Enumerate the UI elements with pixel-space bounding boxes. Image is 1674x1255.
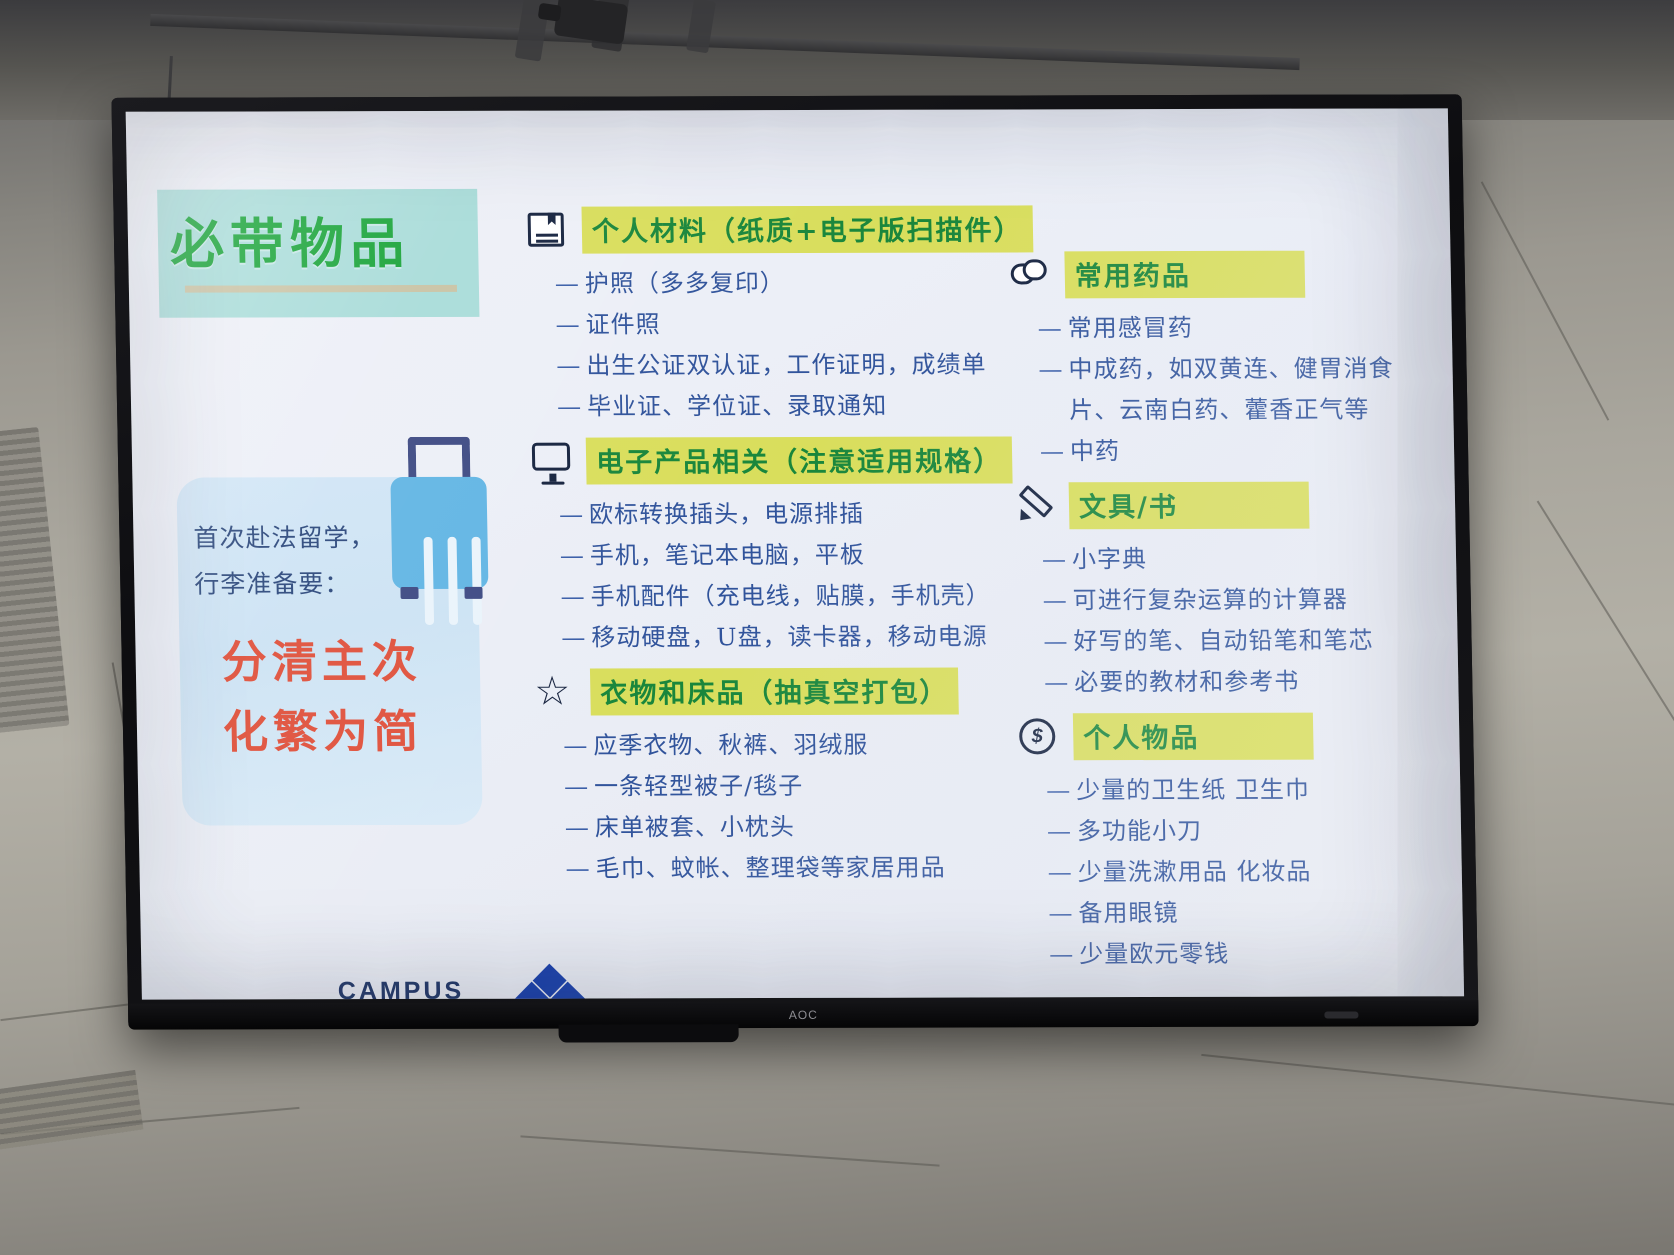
room-photo-scene: AOC 必带物品 首次赴法留学， 行李准备要： <box>0 0 1674 1255</box>
pencil-icon <box>1013 486 1058 526</box>
section-heading-row: 常用药品 <box>1008 250 1439 298</box>
column-right: 常用药品 —常用感冒药 —中成药，如双黄连、健胃消食 —片、云南白药、藿香正气等… <box>1008 250 1452 985</box>
logo-word-campus: CAMPUS <box>338 977 465 1000</box>
section-personal-items: $ 个人物品 —少量的卫生纸 卫生巾 —多功能小刀 —少量洗漱用品 化妆品 —备… <box>1017 712 1452 975</box>
list-item: —欧标转换插头，电源排插 <box>589 493 1002 535</box>
list-item: —可进行复杂运算的计算器 <box>1072 579 1445 621</box>
suitcase-foot <box>464 587 482 599</box>
section-personal-documents: 个人材料（纸质+电子版扫描件） —护照（多多复印） —证件照 —出生公证双认证，… <box>525 206 999 428</box>
slogan-line-2: 化繁为简 <box>222 697 483 768</box>
section-heading-row: 个人材料（纸质+电子版扫描件） <box>525 206 996 254</box>
list-item: —移动硬盘，U盘，读卡器，移动电源 <box>591 616 1004 658</box>
monitor-icon <box>530 441 575 481</box>
list-item: —手机，笔记本电脑，平板 <box>589 534 1002 576</box>
section-heading: 衣物和床品（抽真空打包） <box>590 668 959 716</box>
section-heading: 个人材料（纸质+电子版扫描件） <box>581 205 1033 253</box>
list-item: —常用感冒药 <box>1067 307 1440 349</box>
list-item: —少量欧元零钱 <box>1079 933 1452 975</box>
section-item-list: —应季衣物、秋裤、羽绒服 —一条轻型被子/毯子 —床单被套、小枕头 —毛巾、蚊帐… <box>535 724 1008 889</box>
ir-sensor <box>1324 1011 1358 1018</box>
section-item-list: —少量的卫生纸 卫生巾 —多功能小刀 —少量洗漱用品 化妆品 —备用眼镜 —少量… <box>1018 769 1452 975</box>
column-middle: 个人材料（纸质+电子版扫描件） —护照（多多复印） —证件照 —出生公证双认证，… <box>525 206 1008 900</box>
book-icon <box>526 210 571 250</box>
slogan-text: 分清主次 化繁为简 <box>221 627 484 768</box>
tv-brand-logo: AOC <box>789 1008 818 1022</box>
title-underline <box>185 285 457 293</box>
list-item-continuation: —片、云南白药、藿香正气等 <box>1069 389 1442 431</box>
list-item: —中成药，如双黄连、健胃消食 <box>1068 348 1441 390</box>
list-item: —床单被套、小枕头 <box>594 806 1007 848</box>
section-item-list: —欧标转换插头，电源排插 —手机，笔记本电脑，平板 —手机配件（充电线，贴膜，手… <box>531 493 1004 658</box>
intro-text: 首次赴法留学， 行李准备要： <box>193 515 435 608</box>
star-icon: ☆ <box>534 672 579 712</box>
wall-mounted-tv: AOC 必带物品 首次赴法留学， 行李准备要： <box>111 94 1478 1027</box>
intro-line-2: 行李准备要： <box>194 561 435 608</box>
section-item-list: —常用感冒药 —中成药，如双黄连、健胃消食 —片、云南白药、藿香正气等 —中药 <box>1009 307 1442 472</box>
section-heading-row: 文具/书 <box>1013 481 1444 529</box>
list-item: —护照（多多复印） <box>585 263 998 305</box>
list-item: —必要的教材和参考书 <box>1074 661 1447 703</box>
list-item: —毕业证、学位证、录取通知 <box>587 385 1000 427</box>
section-heading-row: ☆ 衣物和床品（抽真空打包） <box>534 667 1005 715</box>
suitcase-stripe <box>448 537 459 625</box>
list-item: —好写的笔、自动铅笔和笔芯 <box>1073 620 1446 662</box>
list-item: —小字典 <box>1072 538 1445 580</box>
slogan-line-1: 分清主次 <box>221 627 482 698</box>
list-item: —中药 <box>1070 430 1443 472</box>
section-heading: 常用药品 <box>1064 251 1305 299</box>
list-item: —备用眼镜 <box>1078 892 1451 934</box>
intro-line-1: 首次赴法留学， <box>193 515 434 562</box>
section-item-list: —小字典 —可进行复杂运算的计算器 —好写的笔、自动铅笔和笔芯 —必要的教材和参… <box>1014 538 1447 703</box>
list-item: —应季衣物、秋裤、羽绒服 <box>593 724 1006 766</box>
list-item: —一条轻型被子/毯子 <box>594 765 1007 807</box>
list-item: —少量的卫生纸 卫生巾 <box>1076 769 1449 811</box>
logo-pyramid-icon <box>487 968 612 999</box>
section-heading: 电子产品相关（注意适用规格） <box>586 436 1013 484</box>
list-item: —出生公证双认证，工作证明，成绩单 <box>586 344 999 386</box>
list-item: —手机配件（充电线，贴膜，手机壳） <box>590 575 1003 617</box>
suitcase-stripe <box>472 537 483 625</box>
list-item: —多功能小刀 <box>1077 810 1450 852</box>
section-item-list: —护照（多多复印） —证件照 —出生公证双认证，工作证明，成绩单 —毕业证、学位… <box>527 263 1000 428</box>
list-item: —少量洗漱用品 化妆品 <box>1077 851 1450 893</box>
list-item: —毛巾、蚊帐、整理袋等家居用品 <box>595 847 1008 889</box>
section-medicine: 常用药品 —常用感冒药 —中成药，如双黄连、健胃消食 —片、云南白药、藿香正气等… <box>1008 250 1442 472</box>
list-item: —证件照 <box>585 304 998 346</box>
section-heading: 文具/书 <box>1069 482 1310 530</box>
pill-icon <box>1008 255 1053 295</box>
logo-wordmark: CAMPUS FRANCE <box>338 977 465 1000</box>
page-title: 必带物品 <box>169 199 470 279</box>
presentation-slide: 必带物品 首次赴法留学， 行李准备要： 分清主次 化繁为简 <box>126 108 1464 999</box>
section-heading: 个人物品 <box>1073 713 1314 761</box>
section-heading-row: $ 个人物品 <box>1017 712 1448 760</box>
campus-france-logo: CAMPUS FRANCE CHINE 法国高等教育署 <box>319 966 611 999</box>
tv-stand <box>558 1024 738 1042</box>
section-clothing-bedding: ☆ 衣物和床品（抽真空打包） —应季衣物、秋裤、羽绒服 —一条轻型被子/毯子 —… <box>534 667 1008 889</box>
section-stationery-books: 文具/书 —小字典 —可进行复杂运算的计算器 —好写的笔、自动铅笔和笔芯 —必要… <box>1013 481 1447 703</box>
dollar-circle-icon: $ <box>1017 717 1062 757</box>
suitcase-handle <box>408 437 471 481</box>
section-electronics: 电子产品相关（注意适用规格） —欧标转换插头，电源排插 —手机，笔记本电脑，平板… <box>530 436 1004 658</box>
section-heading-row: 电子产品相关（注意适用规格） <box>530 436 1001 484</box>
